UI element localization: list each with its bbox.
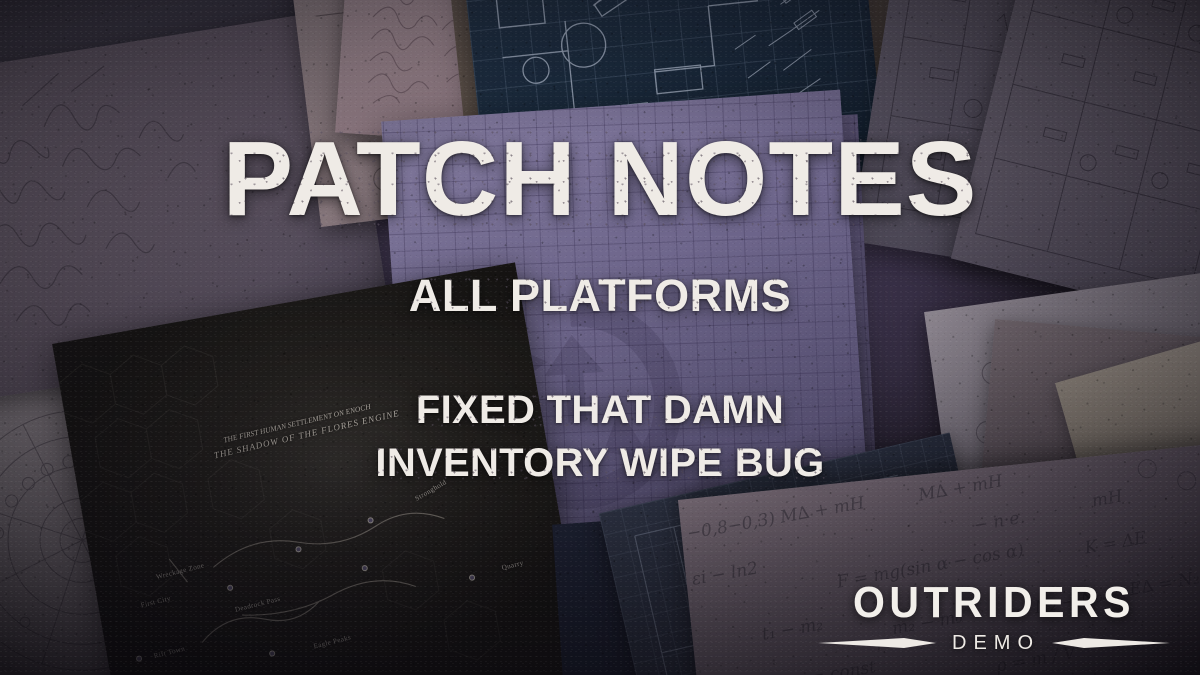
spear-right-icon — [1052, 635, 1170, 651]
svg-text:Σ m·v = const: Σ m·v = const — [755, 657, 878, 675]
svg-text:mH: mH — [1090, 486, 1125, 511]
patch-notes-banner: THE FIRST HUMAN SETTLEMENT ON ENOCH THE … — [0, 0, 1200, 675]
outriders-logo: OUTRIDERS DEMO — [818, 582, 1170, 653]
logo-wordmark: OUTRIDERS — [853, 581, 1135, 624]
svg-text:M∆ + mH: M∆ + mH — [916, 471, 1006, 506]
svg-text:εi − ln2: εi − ln2 — [690, 559, 759, 590]
spear-left-icon — [818, 635, 936, 651]
logo-edition-row: DEMO — [818, 633, 1170, 653]
logo-edition-label: DEMO — [948, 633, 1040, 653]
svg-text:t₁ − m₂: t₁ − m₂ — [760, 614, 824, 644]
svg-text:− n·e.: − n·e. — [972, 507, 1026, 536]
svg-text:K = ΔE: K = ΔE — [1082, 528, 1149, 559]
svg-text:−0,8−0,3) M∆ + mH: −0,8−0,3) M∆ + mH — [685, 493, 867, 544]
